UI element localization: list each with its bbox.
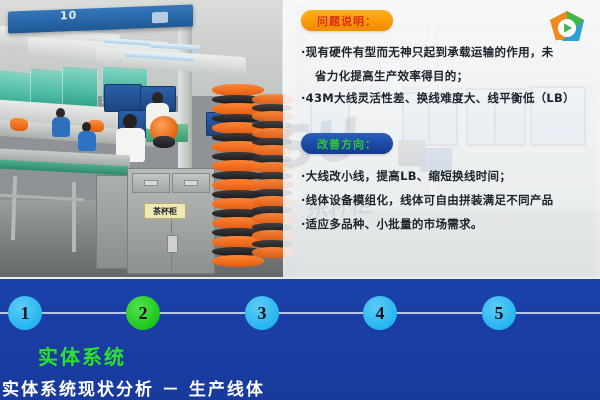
cabinet-door-handle bbox=[167, 235, 178, 253]
step-1[interactable]: 1 bbox=[8, 296, 42, 330]
improvement-bullet-2: ·线体设备模组化，线体可自由拼装满足不同产品 bbox=[301, 192, 600, 208]
step-2[interactable]: 2 bbox=[126, 296, 160, 330]
improvement-badge: 改善方向： bbox=[301, 133, 393, 154]
step-5[interactable]: 5 bbox=[482, 296, 516, 330]
line-banner-logo bbox=[152, 12, 168, 24]
section-title: 实体系统 bbox=[38, 341, 126, 370]
drawer-handle bbox=[144, 180, 158, 186]
problem-bullet-1-cont: 省力化提高生产效率得目的； bbox=[315, 68, 600, 84]
step-3[interactable]: 3 bbox=[245, 296, 279, 330]
step-progress: 1 2 3 4 5 bbox=[0, 296, 600, 330]
product-rotor-base bbox=[153, 136, 175, 148]
improvement-bullet-1: ·大线改小线，提高LB、缩短换线时间； bbox=[301, 168, 600, 184]
improvement-bullet-3: ·适应多品种、小批量的市场需求。 bbox=[301, 216, 600, 232]
problem-bullet-2: ·43M大线灵活性差、换线难度大、线平衡低（LB） bbox=[301, 90, 600, 106]
line-banner-number: 10 bbox=[60, 9, 77, 23]
slide-subtitle: 实体系统现状分析 － 生产线体 bbox=[2, 375, 265, 400]
product-part bbox=[10, 117, 28, 131]
table-leg bbox=[72, 182, 76, 252]
problem-bullet-1: ·现有硬件有型而无神只起到承载运输的作用，未 bbox=[301, 44, 600, 60]
video-frame: 10 bbox=[0, 0, 600, 400]
tool-cabinet: 茶杯柜 bbox=[127, 168, 215, 274]
problem-badge: 问题说明： bbox=[301, 10, 393, 31]
cabinet-label: 茶杯柜 bbox=[144, 203, 186, 219]
blue-crate bbox=[104, 84, 142, 112]
step-4[interactable]: 4 bbox=[363, 296, 397, 330]
drawer-handle bbox=[184, 180, 198, 186]
bottom-title-bar: · 1 2 3 4 5 实体系统 实体系统现状分析 － 生产线体 bbox=[0, 277, 600, 400]
tencent-video-play-logo[interactable] bbox=[548, 10, 586, 44]
